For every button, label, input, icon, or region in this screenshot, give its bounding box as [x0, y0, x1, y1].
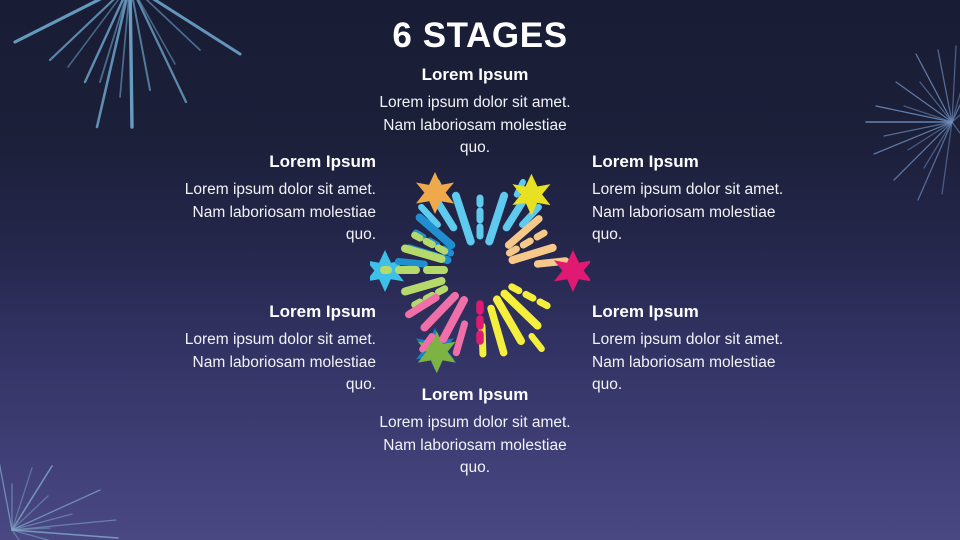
- stage-body: Lorem ipsum dolor sit amet. Nam laborios…: [370, 92, 580, 159]
- stage-heading: Lorem Ipsum: [592, 151, 797, 173]
- stage-block-top: Lorem Ipsum Lorem ipsum dolor sit amet. …: [370, 64, 580, 160]
- stage-body: Lorem ipsum dolor sit amet. Nam laborios…: [178, 179, 376, 246]
- stage-block-bottom: Lorem Ipsum Lorem ipsum dolor sit amet. …: [370, 384, 580, 480]
- stage-block-right-upper: Lorem Ipsum Lorem ipsum dolor sit amet. …: [592, 151, 797, 247]
- stage-block-left-lower: Lorem Ipsum Lorem ipsum dolor sit amet. …: [178, 301, 376, 397]
- stage-body: Lorem ipsum dolor sit amet. Nam laborios…: [370, 412, 580, 479]
- stage-body: Lorem ipsum dolor sit amet. Nam laborios…: [178, 329, 376, 396]
- burst-bottom-left: [0, 420, 230, 540]
- stage-block-left-upper: Lorem Ipsum Lorem ipsum dolor sit amet. …: [178, 151, 376, 247]
- stage-heading: Lorem Ipsum: [178, 301, 376, 323]
- stage-block-right-lower: Lorem Ipsum Lorem ipsum dolor sit amet. …: [592, 301, 797, 397]
- slide-canvas: 6 STAGES: [0, 0, 960, 540]
- stage-heading: Lorem Ipsum: [370, 64, 580, 86]
- stage-heading: Lorem Ipsum: [370, 384, 580, 406]
- stage-body: Lorem ipsum dolor sit amet. Nam laborios…: [592, 329, 797, 396]
- stage-heading: Lorem Ipsum: [178, 151, 376, 173]
- page-title: 6 STAGES: [0, 18, 960, 53]
- burst-right-edge: [856, 44, 960, 204]
- stage-heading: Lorem Ipsum: [592, 301, 797, 323]
- stage-body: Lorem ipsum dolor sit amet. Nam laborios…: [592, 179, 797, 246]
- firework-burst-graphic: [370, 160, 590, 380]
